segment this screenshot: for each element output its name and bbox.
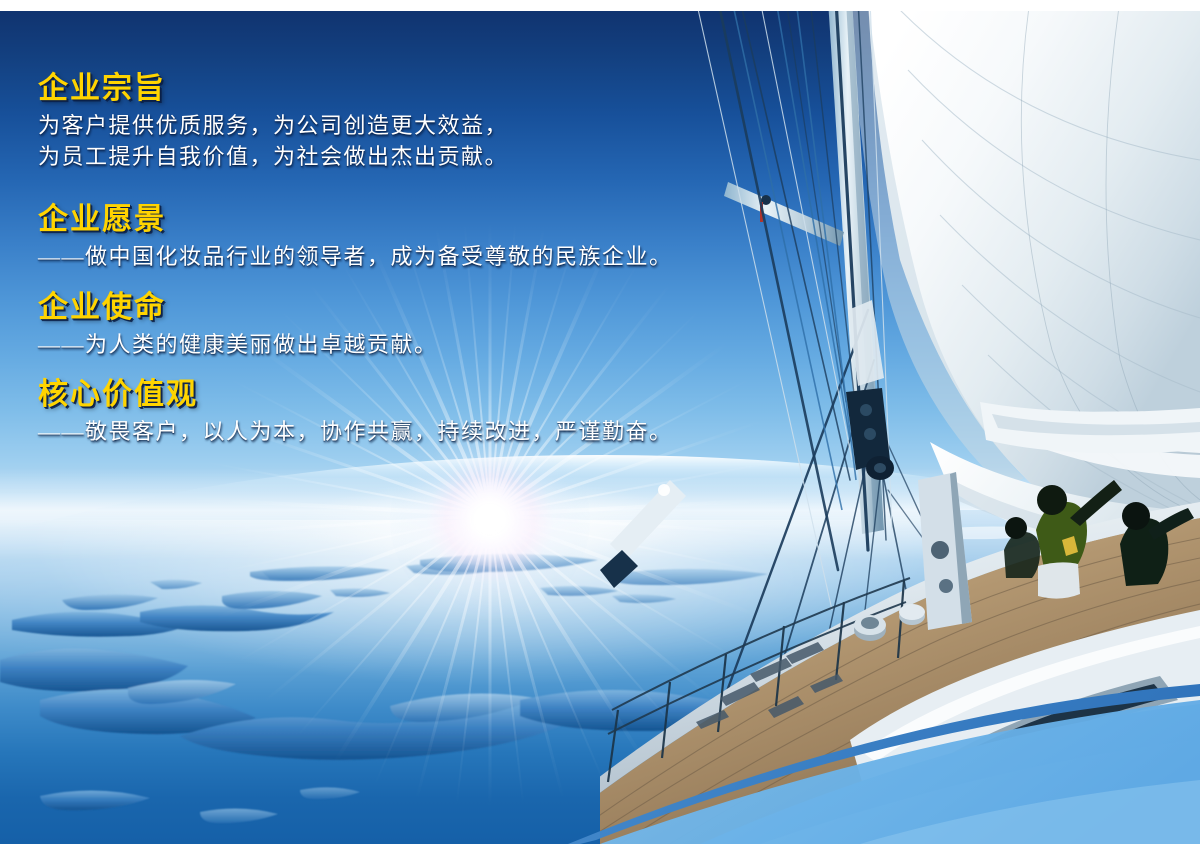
section-heading-core-values: 核心价值观 <box>38 378 673 412</box>
section-block-mission: 企业使命 ——为人类的健康美丽做出卓越贡献。 <box>38 291 438 360</box>
section-line-purpose-2: 为员工提升自我价值，为社会做出杰出贡献。 <box>38 141 508 172</box>
section-block-purpose: 企业宗旨 为客户提供优质服务，为公司创造更大效益， 为员工提升自我价值，为社会做… <box>38 72 508 172</box>
section-line-mission-1: ——为人类的健康美丽做出卓越贡献。 <box>38 329 438 360</box>
corporate-culture-banner: 企业宗旨 为客户提供优质服务，为公司创造更大效益， 为员工提升自我价值，为社会做… <box>0 0 1200 844</box>
section-line-core-values-1: ——敬畏客户，以人为本，协作共赢，持续改进，严谨勤奋。 <box>38 416 673 447</box>
section-heading-mission: 企业使命 <box>38 291 438 325</box>
section-block-core-values: 核心价值观 ——敬畏客户，以人为本，协作共赢，持续改进，严谨勤奋。 <box>38 378 673 447</box>
section-line-purpose-1: 为客户提供优质服务，为公司创造更大效益， <box>38 110 508 141</box>
section-heading-purpose: 企业宗旨 <box>38 72 508 106</box>
section-block-vision: 企业愿景 ——做中国化妆品行业的领导者，成为备受尊敬的民族企业。 <box>38 203 673 272</box>
section-heading-vision: 企业愿景 <box>38 203 673 237</box>
section-line-vision-1: ——做中国化妆品行业的领导者，成为备受尊敬的民族企业。 <box>38 241 673 272</box>
top-white-strip <box>0 0 1200 11</box>
text-content-layer: 企业宗旨 为客户提供优质服务，为公司创造更大效益， 为员工提升自我价值，为社会做… <box>0 0 1200 844</box>
